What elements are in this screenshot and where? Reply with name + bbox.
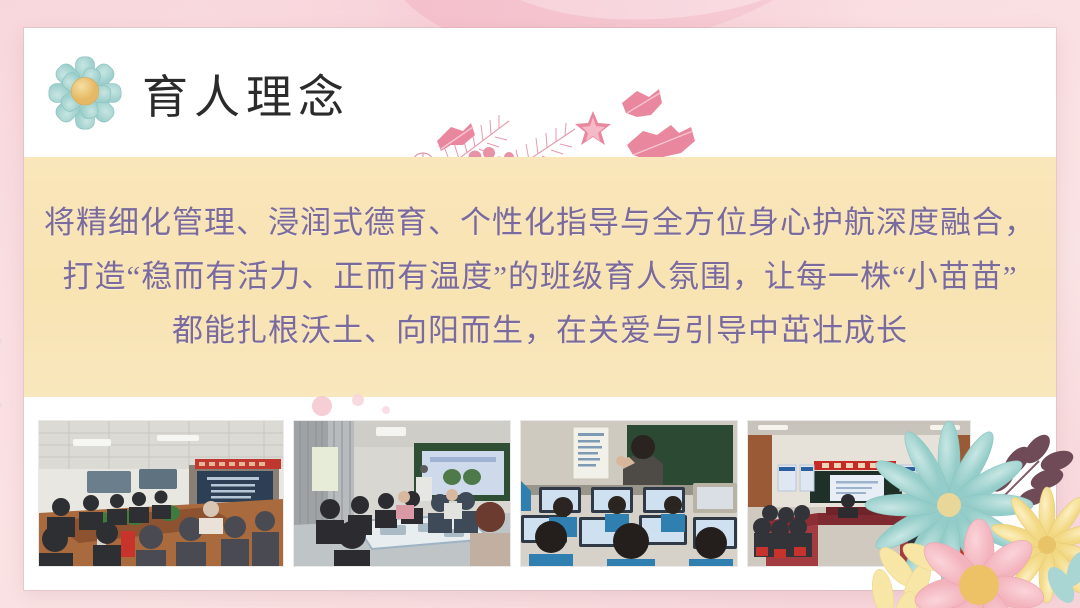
- quote-line-3: 都能扎根沃土、向阳而生，在关爱与引导中茁壮成长: [172, 304, 908, 358]
- photo-group-discussion: [293, 420, 511, 567]
- photo-strip: [34, 420, 1046, 565]
- quote-line-2: 打造“稳而有活力、正而有温度”的班级育人氛围，让每一株“小苗苗”: [62, 250, 1017, 304]
- quote-line-1: 将精细化管理、浸润式德育、个性化指导与全方位身心护航深度融合，: [44, 196, 1036, 250]
- photo-meeting-room: [38, 420, 284, 567]
- teal-paper-flower-icon: [42, 50, 128, 136]
- photo-computer-lab: [520, 420, 738, 567]
- philosophy-quote-band: 将精细化管理、浸润式德育、个性化指导与全方位身心护航深度融合， 打造“稳而有活力…: [24, 157, 1056, 397]
- photo-conference-hall: [747, 420, 971, 567]
- slide-canvas: 育人理念: [0, 0, 1080, 608]
- slide-header: 育人理念: [24, 28, 1056, 157]
- slide-card: 育人理念: [24, 28, 1056, 590]
- page-title: 育人理念: [142, 61, 350, 127]
